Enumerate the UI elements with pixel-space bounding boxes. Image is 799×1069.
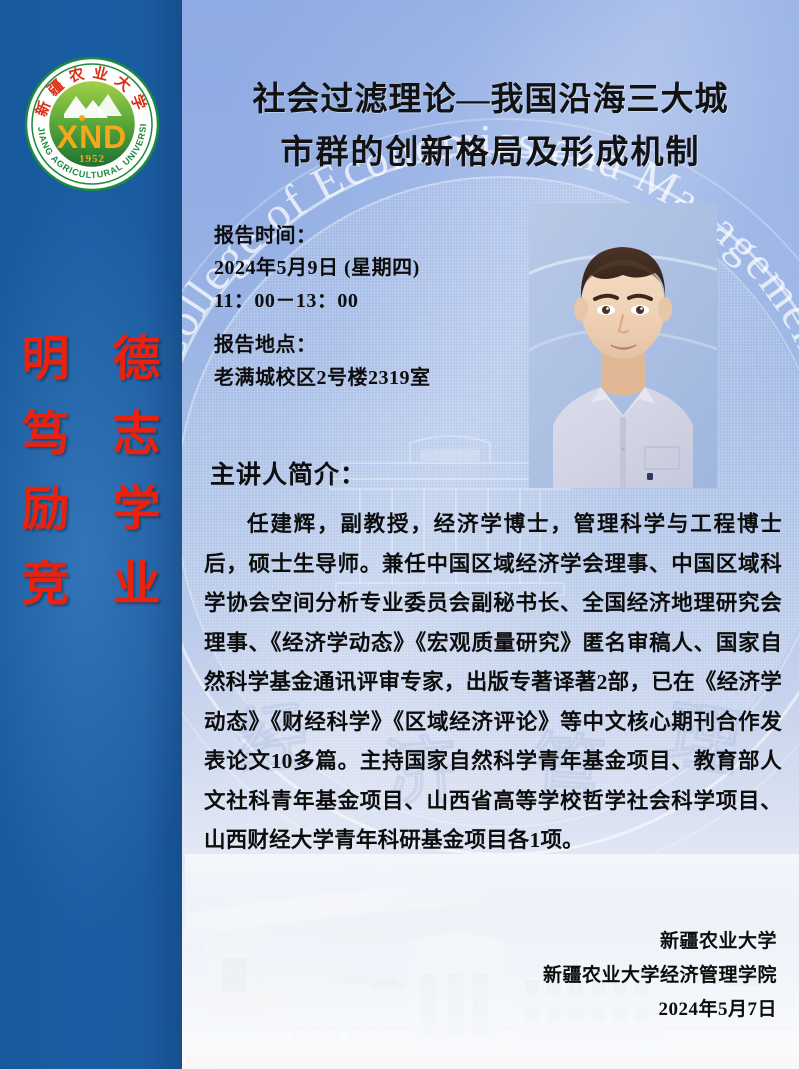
university-logo-icon: XND 1952 新疆农业大学 XINJIANG AGRICULTURAL UN… [24,56,160,192]
motto-char: 志 [112,411,160,460]
motto-char: 笃 [21,411,69,460]
event-place-block: 报告地点： 老满城校区2号楼2319室 [214,329,544,394]
university-logo: XND 1952 新疆农业大学 XINJIANG AGRICULTURAL UN… [24,56,160,192]
event-time-label: 报告时间： [214,220,544,252]
svg-text:1952: 1952 [79,153,105,165]
motto-char: 业 [112,561,160,610]
poster-root: College of Economics and Management 经 济 … [0,0,799,1069]
event-time-range: 11：00－13：00 [214,285,544,317]
speaker-bio-heading: 主讲人简介： [210,455,366,491]
poster-title-line-1: 社会过滤理论—我国沿海三大城 [198,74,783,127]
motto-char: 竞 [21,561,69,610]
poster-signature: 新疆农业大学 新疆农业大学经济管理学院 2024年5月7日 [357,925,777,1026]
event-meta: 报告时间： 2024年5月9日 (星期四) 11：00－13：00 报告地点： … [214,220,544,394]
speaker-portrait [529,203,717,488]
event-place-value: 老满城校区2号楼2319室 [214,362,544,394]
event-time-block: 报告时间： 2024年5月9日 (星期四) 11：00－13：00 [214,220,544,317]
signature-line-1: 新疆农业大学 [357,925,777,959]
poster-title: 社会过滤理论—我国沿海三大城 市群的创新格局及形成机制 [198,74,783,181]
poster-title-line-2: 市群的创新格局及形成机制 [198,127,783,180]
event-place-label: 报告地点： [214,329,544,361]
motto-char: 明 [21,336,69,385]
speaker-bio-text: 任建辉，副教授，经济学博士，管理科学与工程博士后，硕士生导师。兼任中国区域经济学… [204,505,782,861]
motto-char: 励 [21,486,69,535]
motto-char: 学 [112,486,160,535]
event-time-date: 2024年5月9日 (星期四) [214,252,544,284]
content-column: 社会过滤理论—我国沿海三大城 市群的创新格局及形成机制 报告时间： 2024年5… [182,0,799,1069]
sidebar: XND 1952 新疆农业大学 XINJIANG AGRICULTURAL UN… [0,0,182,1069]
university-motto: 明 德 笃 志 励 学 竞 业 [0,336,182,610]
signature-date: 2024年5月7日 [357,993,777,1027]
svg-text:XND: XND [57,119,128,155]
motto-char: 德 [112,336,160,385]
signature-line-2: 新疆农业大学经济管理学院 [357,959,777,993]
speaker-portrait-image [529,203,717,488]
